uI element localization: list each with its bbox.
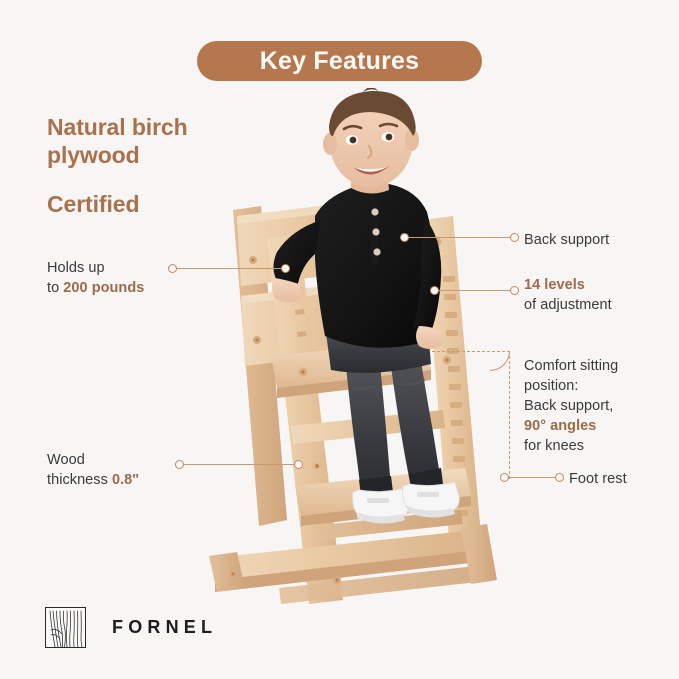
callout-foot-rest: Foot rest (569, 469, 679, 489)
connector-dot-back-support-start (400, 233, 409, 242)
callout-weight-value: 200 pounds (63, 280, 144, 296)
wood-grain-logo-icon (45, 607, 86, 648)
callout-weight-capacity: Holds up to 200 pounds (47, 258, 197, 298)
connector-dot-foot-rest-end (555, 473, 564, 482)
connector-line-foot-rest (504, 477, 559, 478)
brand-wordmark: FORNEL (112, 617, 217, 638)
right-angle-arc-icon (490, 351, 510, 371)
infographic-canvas: Key Features (0, 0, 679, 679)
callout-comfort-line1: Comfort sitting (524, 358, 618, 374)
brand-logo: FORNEL (45, 607, 217, 648)
callout-weight-prefix: to (47, 280, 63, 296)
callout-thickness-line1: Wood (47, 452, 85, 468)
callout-comfort-line5: for knees (524, 438, 584, 454)
callout-back-support-label: Back support (524, 232, 609, 248)
connector-dot-thickness-end (294, 460, 303, 469)
callout-comfort-position: Comfort sitting position: Back support, … (524, 356, 679, 456)
callout-back-support: Back support (524, 230, 674, 250)
connector-dot-back-support-end (510, 233, 519, 242)
connector-dot-foot-rest-start (500, 473, 509, 482)
callout-thickness-prefix: thickness (47, 472, 112, 488)
callout-comfort-angle-value: 90° angles (524, 418, 596, 434)
connector-line-back-support (404, 237, 514, 238)
callout-adjustment-levels: 14 levels of adjustment (524, 275, 674, 315)
callout-levels-detail: of adjustment (524, 297, 612, 313)
callout-weight-line1: Holds up (47, 260, 105, 276)
callout-thickness-value: 0.8" (112, 472, 139, 488)
connector-dot-weight-end (281, 264, 290, 273)
callout-foot-rest-label: Foot rest (569, 471, 627, 487)
callout-wood-thickness: Wood thickness 0.8" (47, 450, 207, 490)
key-features-badge-label: Key Features (260, 47, 419, 76)
callout-comfort-line3: Back support, (524, 398, 613, 414)
connector-dot-levels-end (510, 286, 519, 295)
headline-material: Natural birch plywood (47, 113, 247, 169)
connector-line-levels (434, 290, 514, 291)
angle-bracket-guide (432, 342, 522, 482)
connector-dot-levels-start (430, 286, 439, 295)
callout-levels-value: 14 levels (524, 277, 585, 293)
callout-comfort-line2: position: (524, 378, 578, 394)
headline-certified: Certified (47, 190, 247, 218)
angle-bracket-vertical (509, 351, 510, 479)
key-features-badge: Key Features (197, 41, 482, 81)
